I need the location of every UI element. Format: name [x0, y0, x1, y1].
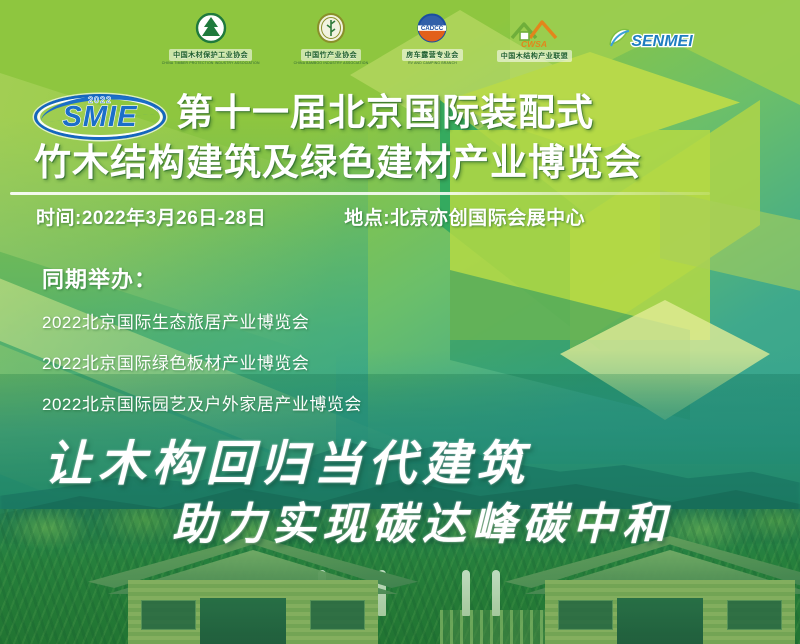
title-divider-rule	[10, 192, 710, 195]
logo-label-en: CHINA TIMBER PROTECTION INDUSTRY ASSOCIA…	[162, 61, 260, 65]
svg-text:SENMEI: SENMEI	[632, 33, 694, 50]
logo-label-en: RV AND CAMPING BRANCH	[408, 61, 457, 65]
event-date: 时间:2022年3月26日-28日	[36, 203, 266, 230]
organizer-logo-strip: 中国木材保护工业协会 CHINA TIMBER PROTECTION INDUS…	[0, 8, 800, 70]
cadcc-rv-camping-logo: CADCC 房车露营专业会 RV AND CAMPING BRANCH	[402, 11, 463, 67]
title-row: 2022 SMIE 第十一届北京国际装配式	[34, 92, 784, 140]
svg-text:CADCC: CADCC	[421, 25, 444, 32]
title-block: 2022 SMIE 第十一届北京国际装配式 竹木结构建筑及绿色建材产业博览会	[34, 92, 784, 183]
pine-tree-shield-icon	[191, 13, 231, 47]
leaf-sprout-icon: SENMEI	[606, 24, 698, 54]
logo-label-cn: 中国木材保护工业协会	[169, 49, 252, 61]
smie-wordmark: SMIE	[34, 103, 166, 132]
smie-event-logo: 2022 SMIE	[34, 94, 166, 140]
bamboo-seal-icon	[312, 13, 350, 47]
concurrent-event-item: 2022北京国际生态旅居产业博览会	[42, 308, 362, 333]
logo-label-cn: 房车露营专业会	[402, 49, 463, 61]
cadcc-badge-icon: CADCC	[413, 13, 451, 47]
house-roof-icon: CWSA	[508, 16, 560, 48]
slogan-line-2: 助力实现碳达峰碳中和	[172, 488, 672, 552]
concurrent-events-heading: 同期举办：	[42, 262, 362, 294]
logo-label-cn: 中国木结构产业联盟	[497, 50, 573, 62]
bamboo-association-logo: 中国竹产业协会 CHINA BAMBOO INDUSTRY ASSOCIATIO…	[294, 11, 369, 67]
slogan-line-1: 让木构回归当代建筑	[44, 424, 530, 494]
china-timber-association-logo: 中国木材保护工业协会 CHINA TIMBER PROTECTION INDUS…	[162, 11, 260, 67]
logo-label-cn: 中国竹产业协会	[301, 49, 362, 61]
exhibition-poster: 中国木材保护工业协会 CHINA TIMBER PROTECTION INDUS…	[0, 0, 800, 644]
main-title-line-1: 第十一届北京国际装配式	[176, 92, 594, 133]
logo-label-en: CHINA BAMBOO INDUSTRY ASSOCIATION	[294, 61, 369, 65]
svg-text:CWSA: CWSA	[521, 39, 547, 48]
main-title-line-2: 竹木结构建筑及绿色建材产业博览会	[34, 142, 784, 183]
concurrent-events-block: 同期举办： 2022北京国际生态旅居产业博览会 2022北京国际绿色板材产业博览…	[42, 262, 362, 431]
senmei-logo: SENMEI	[606, 11, 698, 67]
concurrent-event-item: 2022北京国际绿色板材产业博览会	[42, 349, 362, 374]
cwsa-logo: CWSA 中国木结构产业联盟	[497, 11, 573, 67]
event-info-line: 时间:2022年3月26日-28日 地点:北京亦创国际会展中心	[36, 203, 585, 230]
event-venue: 地点:北京亦创国际会展中心	[344, 203, 585, 230]
poster-content: 中国木材保护工业协会 CHINA TIMBER PROTECTION INDUS…	[0, 0, 800, 644]
concurrent-event-item: 2022北京国际园艺及户外家居产业博览会	[42, 390, 362, 415]
